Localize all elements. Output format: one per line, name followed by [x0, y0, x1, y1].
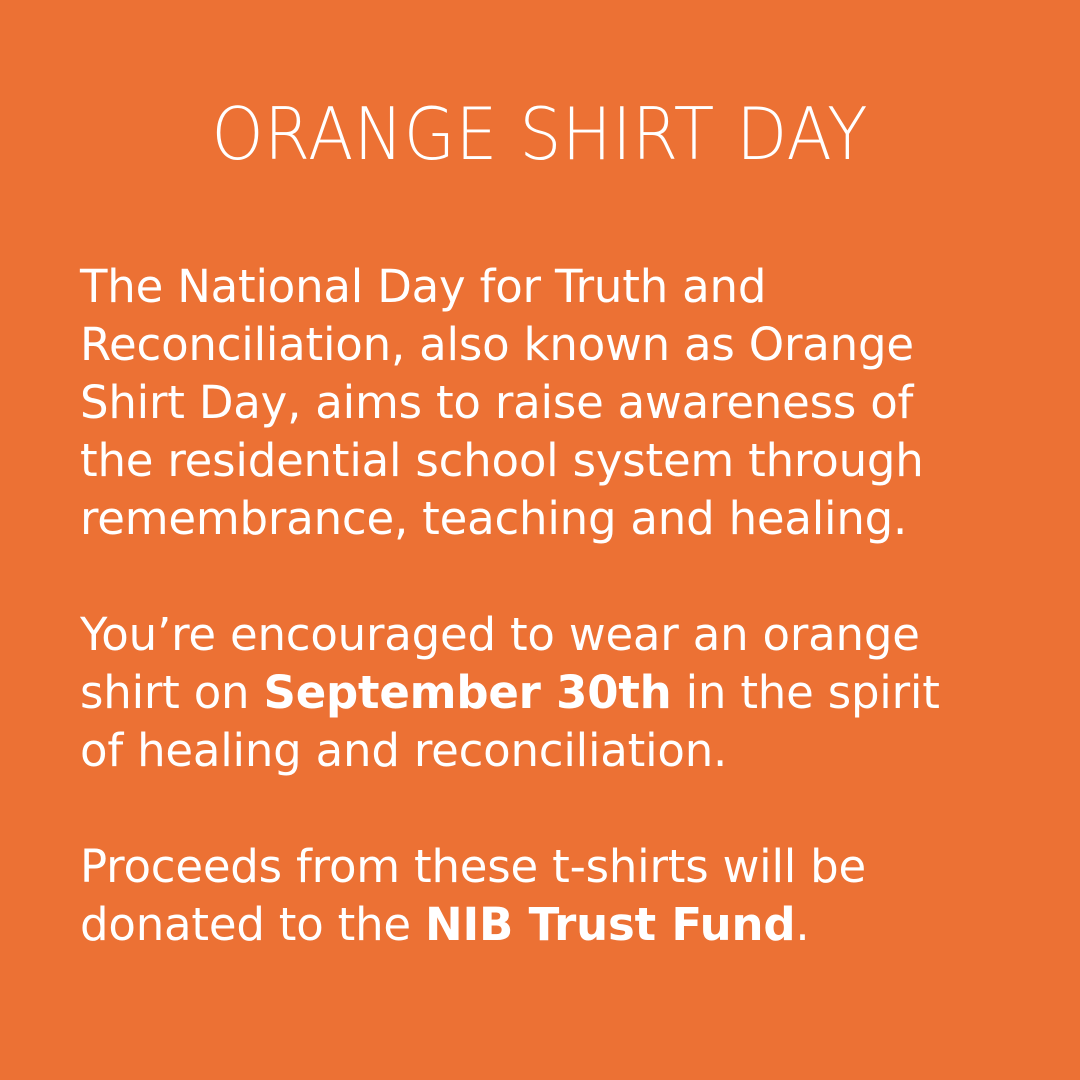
body-text: .	[795, 898, 809, 951]
page-title: ORANGE SHIRT DAY	[212, 96, 869, 172]
paragraph-intro: The National Day for Truth and Reconcili…	[80, 258, 992, 548]
title-container: ORANGE SHIRT DAY	[0, 96, 1080, 172]
emphasis-text: September 30th	[263, 666, 671, 719]
emphasis-text: NIB Trust Fund	[425, 898, 795, 951]
body-text: The National Day for Truth and Reconcili…	[80, 260, 924, 545]
paragraph-call-to-action: You’re encouraged to wear an orange shir…	[80, 606, 992, 780]
body-copy-container: The National Day for Truth and Reconcili…	[80, 258, 992, 954]
paragraph-proceeds: Proceeds from these t-shirts will be don…	[80, 838, 992, 954]
poster-canvas: ORANGE SHIRT DAY The National Day for Tr…	[0, 0, 1080, 1080]
